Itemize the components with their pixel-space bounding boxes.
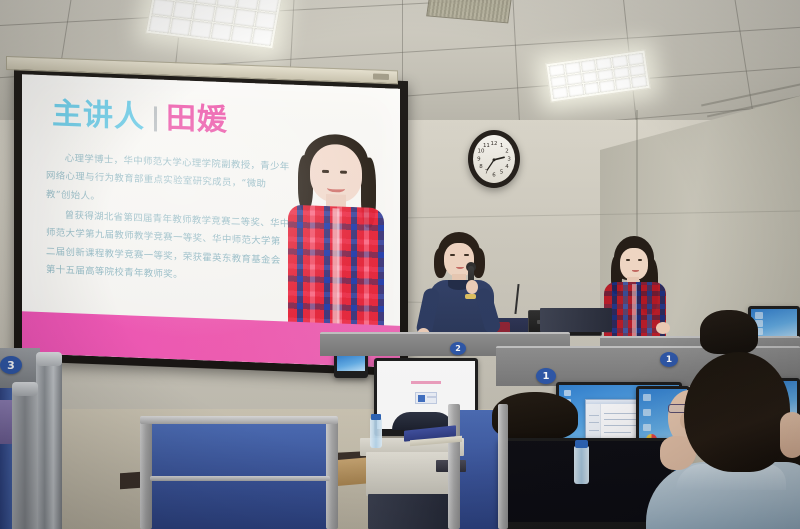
svg-text:8: 8 xyxy=(479,164,483,170)
desk-frame-vertical-2 xyxy=(326,416,338,529)
screen-blue-desktop xyxy=(337,355,365,371)
pc-tower-middle xyxy=(540,308,612,332)
login-header-text xyxy=(411,381,441,384)
slide-title-separator xyxy=(154,106,157,131)
plaid-speaker-eye-right xyxy=(638,259,642,261)
student-hair xyxy=(684,352,790,472)
classroom-photo: 1212 345 678 91011 主讲人 田媛 心理学博士，华中师范大学心 xyxy=(0,0,800,529)
metal-post-left-inner xyxy=(12,386,38,529)
monitor-screen xyxy=(337,355,365,371)
slide-speaker-portrait xyxy=(284,128,388,346)
wall-clock: 1212 345 678 91011 xyxy=(468,130,520,188)
svg-text:6: 6 xyxy=(492,173,496,179)
svg-text:9: 9 xyxy=(477,157,481,163)
water-bottle-right xyxy=(574,446,589,484)
student-seated-right xyxy=(700,300,758,352)
svg-text:11: 11 xyxy=(483,143,490,149)
svg-text:12: 12 xyxy=(491,141,498,147)
presentation-slide: 主讲人 田媛 心理学博士，华中师范大学心理学院副教授，青少年网络心理与行为教育部… xyxy=(22,74,400,368)
row-number-badge-middle-2: 2 xyxy=(450,342,466,355)
water-bottle-desk xyxy=(370,418,382,448)
presenter-wristwatch xyxy=(465,294,476,299)
svg-text:2: 2 xyxy=(505,149,508,155)
presenter-eye-left xyxy=(450,254,455,256)
student-right-hair xyxy=(700,310,758,354)
plaid-speaker-face xyxy=(620,248,648,280)
portrait-eye-right xyxy=(340,171,347,174)
speaker-in-plaid-shirt xyxy=(596,236,676,350)
row-number-badge-middle: 1 xyxy=(536,368,556,384)
svg-text:5: 5 xyxy=(500,170,503,176)
slide-title-main: 主讲人 xyxy=(52,99,145,133)
desk-frame-vertical-3 xyxy=(448,404,460,529)
slide-paragraph-1: 心理学博士，华中师范大学心理学院副教授，青少年网络心理与行为教育部重点实验室研究… xyxy=(46,149,290,213)
plaid-speaker-mouth xyxy=(632,269,639,272)
row-number-badge-3[interactable]: 3 xyxy=(0,356,22,374)
presenter-mouth xyxy=(456,265,464,269)
desk-frame-vertical-4 xyxy=(498,404,508,529)
water-bottle-cap xyxy=(371,414,381,420)
login-field-line xyxy=(427,396,436,398)
slide-title-speaker-name: 田媛 xyxy=(166,104,228,136)
clock-hands-icon: 1212 345 678 91011 xyxy=(473,135,515,183)
water-bottle-right-cap xyxy=(575,440,588,448)
desk-rail-1 xyxy=(150,476,330,481)
svg-text:10: 10 xyxy=(478,149,485,155)
student-arm-far-right xyxy=(780,412,800,458)
metal-post-left-inner-cap xyxy=(12,382,38,396)
desk-frame-top-1 xyxy=(140,416,338,424)
svg-text:3: 3 xyxy=(507,157,511,163)
metal-post-left-cap xyxy=(36,352,62,366)
pc-tower-under-desk xyxy=(368,494,456,529)
student-foreground xyxy=(646,352,800,529)
plaid-speaker-eye-left xyxy=(626,259,630,261)
svg-text:1: 1 xyxy=(500,143,503,149)
slide-title: 主讲人 田媛 xyxy=(52,99,228,136)
desk-panel-front xyxy=(366,452,460,496)
presenter-hand-right xyxy=(466,280,478,294)
slide-paragraph-2: 曾获得湖北省第四届青年教师教学竞赛二等奖、华中师范大学第九届教师教学竞赛一等奖、… xyxy=(46,206,290,289)
plaid-speaker-hand xyxy=(656,322,670,334)
login-dialog[interactable] xyxy=(415,392,437,404)
desk-frame-vertical-1 xyxy=(140,418,152,529)
presenter-eye-right xyxy=(464,254,469,256)
portrait-eye-left xyxy=(322,170,329,173)
metal-post-left-outer xyxy=(36,356,62,529)
svg-text:4: 4 xyxy=(505,164,509,170)
clock-face: 1212 345 678 91011 xyxy=(473,135,515,183)
projection-screen[interactable]: 主讲人 田媛 心理学博士，华中师范大学心理学院副教授，青少年网络心理与行为教育部… xyxy=(14,66,408,376)
slide-body-text: 心理学博士，华中师范大学心理学院副教授，青少年网络心理与行为教育部重点实验室研究… xyxy=(46,149,290,291)
screen-housing-cap xyxy=(373,73,389,80)
login-avatar-icon xyxy=(418,395,425,402)
svg-text:7: 7 xyxy=(485,170,488,176)
